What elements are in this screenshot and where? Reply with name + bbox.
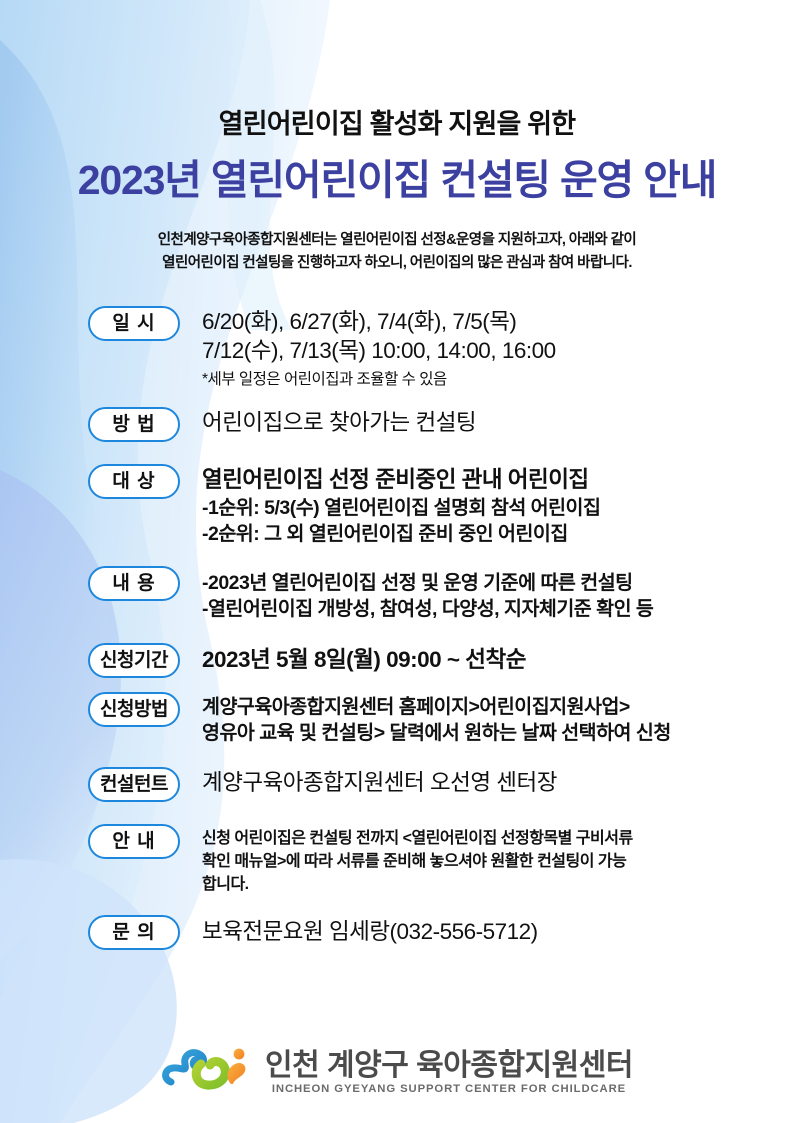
inquiry-line-1: 보육전문요원 임세랑(032-556-5712) (202, 917, 794, 946)
info-row-schedule: 일 시 6/20(화), 6/27(화), 7/4(화), 7/5(목) 7/1… (0, 306, 794, 391)
page-title: 2023년 열린어린이집 컨설팅 운영 안내 (0, 142, 794, 205)
row-label-application-method: 신청방법 (88, 692, 180, 727)
application-method-line-1: 계양구육아종합지원센터 홈페이지>어린이집지원사업> (202, 694, 794, 721)
info-row-method: 방 법 어린이집으로 찾아가는 컨설팅 (0, 407, 794, 442)
header-eyebrow: 열린어린이집 활성화 지원을 위한 (0, 0, 794, 142)
notice-line-2: 확인 매뉴얼>에 따라 서류를 준비해 놓으셔야 원활한 컨설팅이 가능 (202, 850, 794, 873)
info-row-contents: 내 용 -2023년 열린어린이집 선정 및 운영 기준에 따른 컨설팅 -열린… (0, 566, 794, 623)
contents-line-2: -열린어린이집 개방성, 참여성, 다양성, 지자체기준 확인 등 (202, 596, 794, 623)
info-row-application-period: 신청기간 2023년 5월 8일(월) 09:00 ~ 선착순 (0, 643, 794, 678)
row-label-contents: 내 용 (88, 566, 180, 601)
poster-page: 열린어린이집 활성화 지원을 위한 2023년 열린어린이집 컨설팅 운영 안내… (0, 0, 794, 1123)
row-content-application-period: 2023년 5월 8일(월) 09:00 ~ 선착순 (180, 643, 794, 675)
row-content-consultant: 계양구육아종합지원센터 오선영 센터장 (180, 767, 794, 797)
info-row-notice: 안 내 신청 어린이집은 컨설팅 전까지 <열린어린이집 선정항목별 구비서류 … (0, 824, 794, 897)
row-content-notice: 신청 어린이집은 컨설팅 전까지 <열린어린이집 선정항목별 구비서류 확인 매… (180, 824, 794, 897)
info-row-target: 대 상 열린어린이집 선정 준비중인 관내 어린이집 -1순위: 5/3(수) … (0, 464, 794, 548)
footer-logo-english: INCHEON GYEYANG SUPPORT CENTER FOR CHILD… (265, 1081, 633, 1095)
row-label-target: 대 상 (88, 464, 180, 499)
info-rows: 일 시 6/20(화), 6/27(화), 7/4(화), 7/5(목) 7/1… (0, 306, 794, 964)
header-lede-line-1: 인천계양구육아종합지원센터는 열린어린이집 선정&운영을 지원하고자, 아래와 … (67, 229, 727, 252)
application-period-line-1: 2023년 5월 8일(월) 09:00 ~ 선착순 (202, 645, 794, 675)
schedule-note: *세부 일정은 어린이집과 조율할 수 있음 (202, 366, 794, 391)
footer-logo-korean: 인천 계양구 육아종합지원센터 (265, 1050, 633, 1082)
info-row-application-method: 신청방법 계양구육아종합지원센터 홈페이지>어린이집지원사업> 영유아 교육 및… (0, 692, 794, 747)
notice-line-1: 신청 어린이집은 컨설팅 전까지 <열린어린이집 선정항목별 구비서류 (202, 827, 794, 850)
row-label-notice: 안 내 (88, 824, 180, 859)
target-line-2: -1순위: 5/3(수) 열린어린이집 설명회 참석 어린이집 (202, 495, 794, 522)
header-lede-line-2: 열린어린이집 컨설팅을 진행하고자 하오니, 어린이집의 많은 관심과 참여 바… (67, 252, 727, 275)
row-content-method: 어린이집으로 찾아가는 컨설팅 (180, 407, 794, 437)
schedule-line-1: 6/20(화), 6/27(화), 7/4(화), 7/5(목) (202, 307, 794, 336)
row-content-schedule: 6/20(화), 6/27(화), 7/4(화), 7/5(목) 7/12(수)… (180, 306, 794, 391)
row-label-method: 방 법 (88, 407, 180, 442)
info-row-inquiry: 문 의 보육전문요원 임세랑(032-556-5712) (0, 915, 794, 950)
target-line-1: 열린어린이집 선정 준비중인 관내 어린이집 (202, 465, 794, 495)
row-content-application-method: 계양구육아종합지원센터 홈페이지>어린이집지원사업> 영유아 교육 및 컨설팅>… (180, 692, 794, 747)
row-label-schedule: 일 시 (88, 306, 180, 341)
row-label-consultant: 컨설턴트 (88, 767, 180, 802)
row-label-inquiry: 문 의 (88, 915, 180, 950)
poster-header: 열린어린이집 활성화 지원을 위한 2023년 열린어린이집 컨설팅 운영 안내… (0, 0, 794, 276)
row-label-application-period: 신청기간 (88, 643, 180, 678)
consultant-line-1: 계양구육아종합지원센터 오선영 센터장 (202, 768, 794, 797)
footer-logo-text: 인천 계양구 육아종합지원센터 INCHEON GYEYANG SUPPORT … (265, 1048, 633, 1096)
header-lede: 인천계양구육아종합지원센터는 열린어린이집 선정&운영을 지원하고자, 아래와 … (67, 205, 727, 276)
notice-line-3: 합니다. (202, 873, 794, 896)
row-content-target: 열린어린이집 선정 준비중인 관내 어린이집 -1순위: 5/3(수) 열린어린… (180, 464, 794, 548)
footer-logo: 인천 계양구 육아종합지원센터 INCHEON GYEYANG SUPPORT … (0, 1044, 794, 1099)
row-content-contents: -2023년 열린어린이집 선정 및 운영 기준에 따른 컨설팅 -열린어린이집… (180, 566, 794, 623)
sc-swirl-logo-icon (161, 1044, 253, 1099)
row-content-inquiry: 보육전문요원 임세랑(032-556-5712) (180, 915, 794, 946)
application-method-line-2: 영유아 교육 및 컨설팅> 달력에서 원하는 날짜 선택하여 신청 (202, 720, 794, 747)
schedule-line-2: 7/12(수), 7/13(목) 10:00, 14:00, 16:00 (202, 336, 794, 365)
contents-line-1: -2023년 열린어린이집 선정 및 운영 기준에 따른 컨설팅 (202, 570, 794, 597)
method-line-1: 어린이집으로 찾아가는 컨설팅 (202, 408, 794, 437)
info-row-consultant: 컨설턴트 계양구육아종합지원센터 오선영 센터장 (0, 767, 794, 802)
target-line-3: -2순위: 그 외 열린어린이집 준비 중인 어린이집 (202, 521, 794, 548)
